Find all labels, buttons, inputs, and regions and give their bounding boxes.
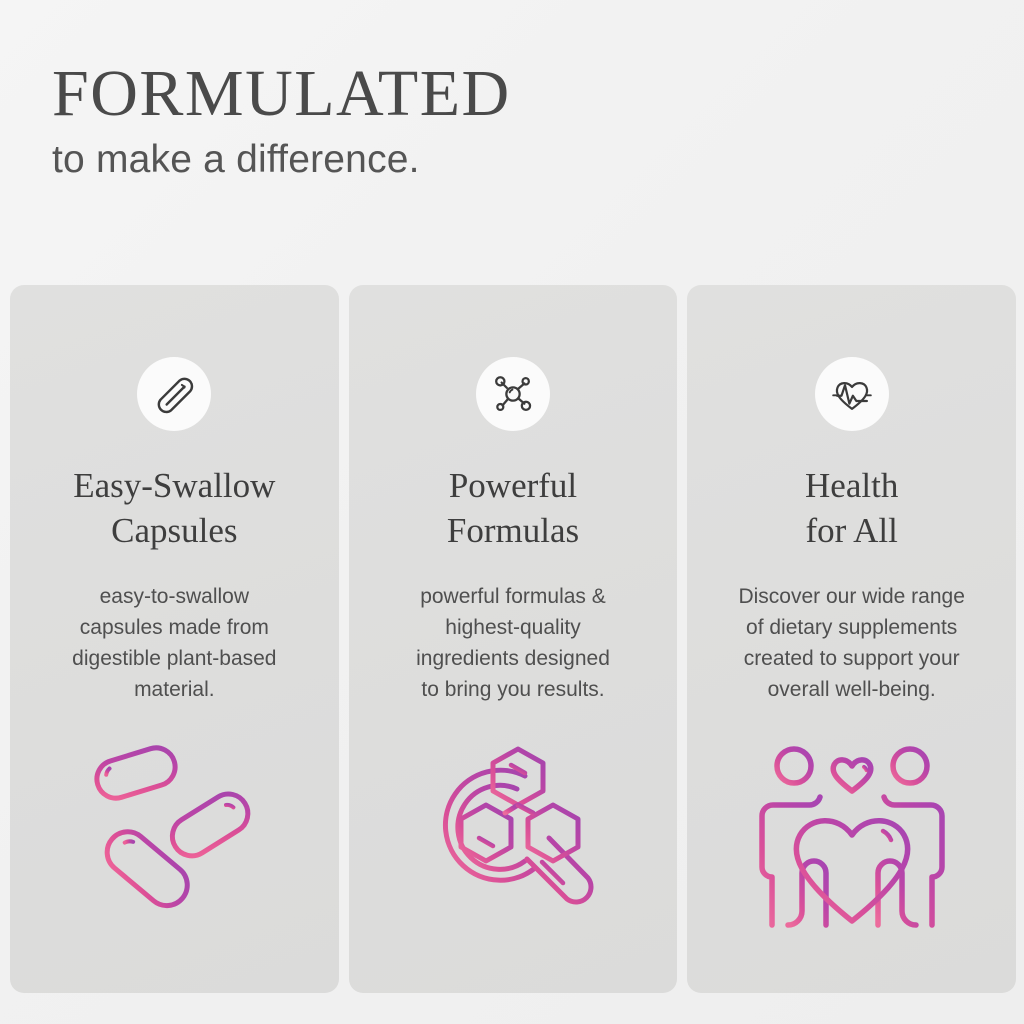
card-body-text: easy-to-swallow capsules made from diges…: [64, 581, 284, 705]
feature-card-powerful-formulas[interactable]: Powerful Formulas powerful formulas & hi…: [349, 285, 678, 993]
illustration-three-capsules: [74, 735, 274, 935]
card-body-text: powerful formulas & highest-quality ingr…: [408, 581, 618, 705]
people-hearts-illustration: [752, 735, 952, 935]
illustration-people-hearts: [752, 735, 952, 935]
card-body-text: Discover our wide range of dietary suppl…: [736, 581, 966, 705]
three-capsules-illustration: [74, 735, 274, 935]
card-title: Easy-Swallow Capsules: [59, 463, 289, 553]
badge-capsule: [137, 357, 211, 431]
badge-heart-heartbeat: [815, 357, 889, 431]
molecule-node-icon: [492, 373, 534, 415]
feature-card-row: Easy-Swallow Capsules easy-to-swallow ca…: [10, 285, 1016, 993]
illustration-magnifier-molecule: [413, 735, 613, 935]
promo-page: FORMULATED to make a difference. Easy-Sw…: [0, 0, 1024, 1024]
page-header: FORMULATED to make a difference.: [52, 58, 952, 184]
heart-heartbeat-icon: [831, 373, 873, 415]
page-subtitle: to make a difference.: [52, 136, 952, 184]
capsule-icon: [153, 373, 195, 415]
feature-card-easy-swallow-capsules[interactable]: Easy-Swallow Capsules easy-to-swallow ca…: [10, 285, 339, 993]
card-title: Powerful Formulas: [433, 463, 593, 553]
magnifier-molecule-illustration: [413, 735, 613, 935]
badge-molecule: [476, 357, 550, 431]
page-title: FORMULATED: [52, 58, 952, 130]
feature-card-health-for-all[interactable]: Health for All Discover our wide range o…: [687, 285, 1016, 993]
card-title: Health for All: [791, 463, 912, 553]
